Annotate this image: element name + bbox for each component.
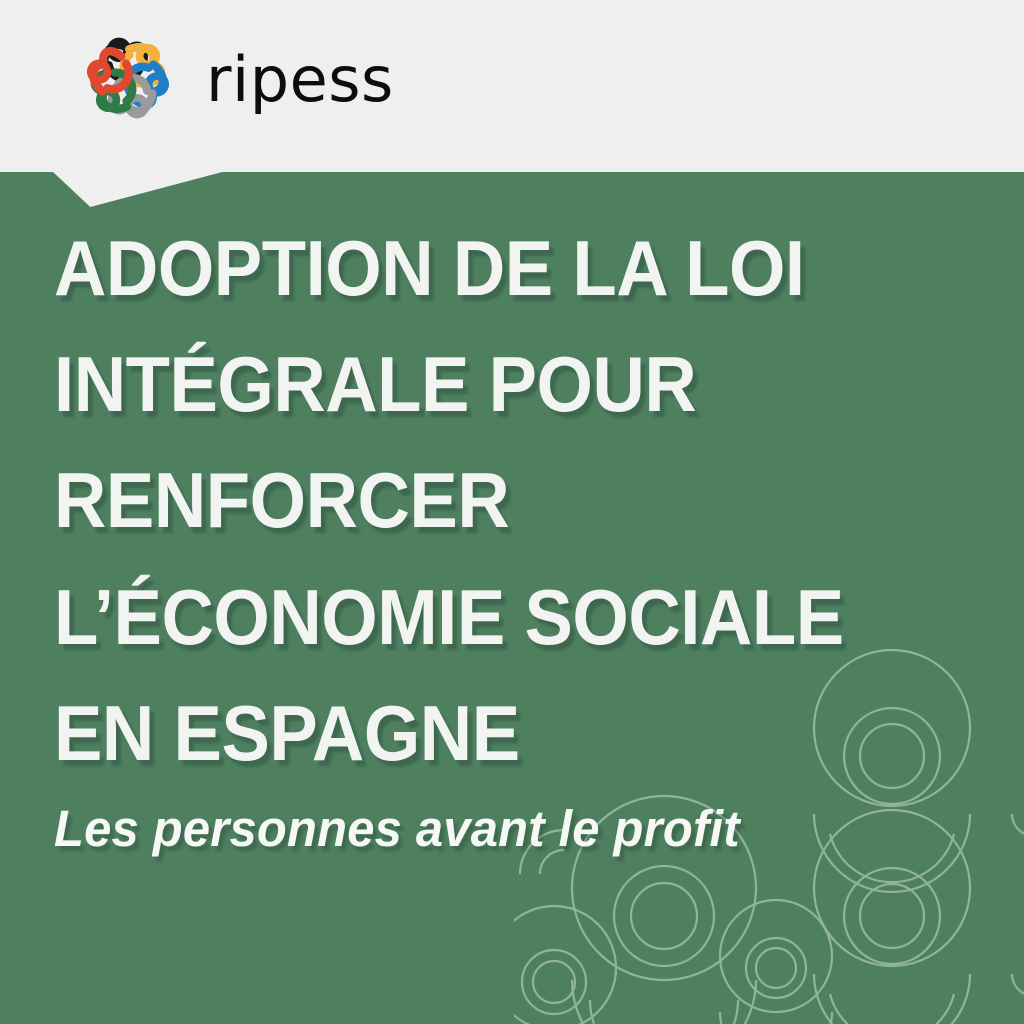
header-notch-shape bbox=[52, 171, 226, 207]
headline-line-5: EN ESPAGNE bbox=[54, 675, 906, 791]
social-media-poster: ripess ADOPTION DE LA LOI INTÉGRALE POUR… bbox=[0, 0, 1024, 1024]
headline-line-1: ADOPTION DE LA LOI bbox=[54, 210, 906, 326]
ripess-people-circle-logo-icon bbox=[64, 14, 192, 142]
brand-wordmark: ripess bbox=[206, 49, 394, 111]
headline-line-4: L’ÉCONOMIE SOCIALE bbox=[54, 559, 906, 675]
headline-line-3: RENFORCER bbox=[54, 442, 906, 558]
poster-subtitle: Les personnes avant le profit bbox=[54, 801, 933, 857]
headline-line-2: INTÉGRALE POUR bbox=[54, 326, 906, 442]
brand-logo[interactable]: ripess bbox=[64, 14, 394, 142]
poster-content: ADOPTION DE LA LOI INTÉGRALE POUR RENFOR… bbox=[0, 210, 1024, 857]
